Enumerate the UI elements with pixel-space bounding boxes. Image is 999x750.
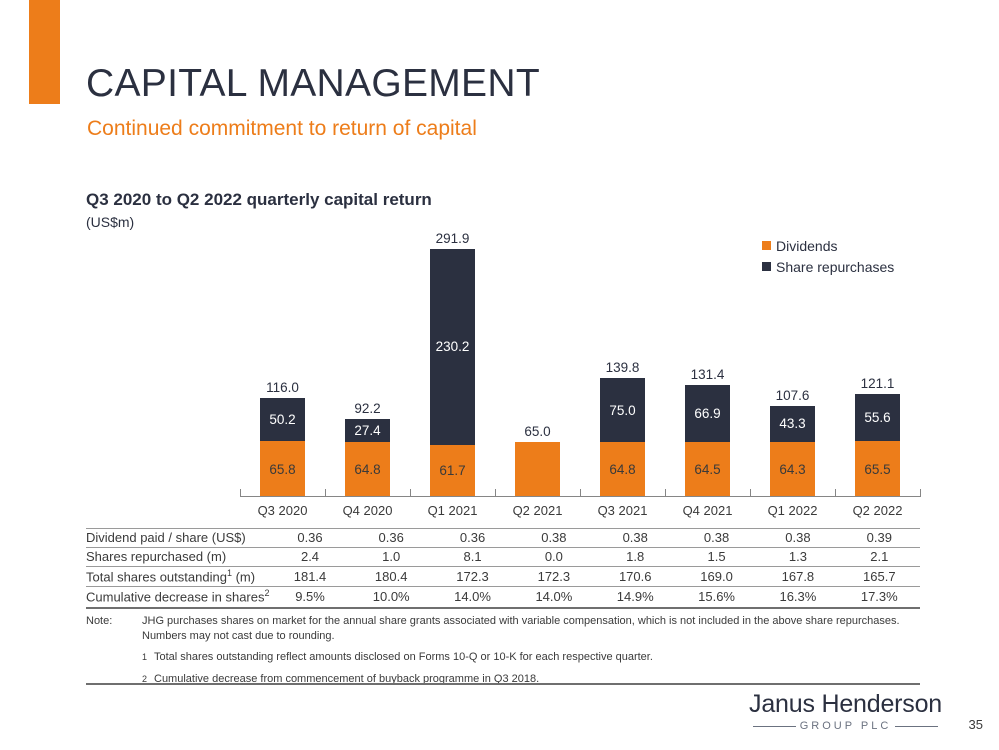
- table-cell: 9.5%: [270, 587, 351, 608]
- note-key: Note:: [86, 614, 142, 644]
- table-cell: 1.0: [351, 548, 432, 567]
- footnote-marker: 1: [142, 650, 154, 665]
- x-axis-tick-label: Q3 2020: [240, 503, 325, 518]
- table-row: Dividend paid / share (US$)0.360.360.360…: [86, 529, 920, 548]
- x-axis-tick: [750, 489, 751, 497]
- table-row-label: Total shares outstanding1 (m): [86, 567, 270, 587]
- bar-segment-dividends[interactable]: 65.5: [855, 441, 900, 497]
- table-cell: 1.5: [676, 548, 757, 567]
- x-axis-tick-label: Q3 2021: [580, 503, 665, 518]
- bar-stack[interactable]: 50.265.8: [260, 398, 305, 497]
- chart-title: Q3 2020 to Q2 2022 quarterly capital ret…: [86, 190, 432, 210]
- notes-block: Note: JHG purchases shares on market for…: [86, 614, 920, 687]
- bar-column[interactable]: 230.261.7291.9: [410, 230, 495, 497]
- company-logo: Janus Henderson GROUP PLC: [749, 690, 942, 732]
- bar-column[interactable]: 66.964.5131.4: [665, 230, 750, 497]
- bar-segment-share-repurchases[interactable]: 27.4: [345, 419, 390, 442]
- bar-segment-dividends[interactable]: 64.8: [345, 442, 390, 497]
- bar-stack[interactable]: 27.464.8: [345, 419, 390, 497]
- table-cell: 0.38: [513, 529, 594, 548]
- bar-segment-share-repurchases[interactable]: 75.0: [600, 378, 645, 442]
- table-cell: 0.36: [270, 529, 351, 548]
- table-row: Shares repurchased (m)2.41.08.10.01.81.5…: [86, 548, 920, 567]
- table-cell: 14.0%: [513, 587, 594, 608]
- table-cell: 2.1: [839, 548, 920, 567]
- bar-stack[interactable]: 66.964.5: [685, 385, 730, 497]
- table-cell: 0.38: [676, 529, 757, 548]
- x-axis-tick-label: Q2 2021: [495, 503, 580, 518]
- bar-total-label: 116.0: [240, 380, 325, 395]
- table-cell: 169.0: [676, 567, 757, 587]
- table-cell: 172.3: [513, 567, 594, 587]
- x-axis-tick-label: Q1 2022: [750, 503, 835, 518]
- bar-column[interactable]: 27.464.892.2: [325, 230, 410, 497]
- bar-segment-dividends[interactable]: 64.5: [685, 442, 730, 497]
- footnote-marker: 1: [227, 568, 232, 578]
- table-cell: 1.3: [757, 548, 838, 567]
- x-axis-tick-label: Q2 2022: [835, 503, 920, 518]
- note-body: JHG purchases shares on market for the a…: [142, 614, 920, 644]
- bar-total-label: 139.8: [580, 360, 665, 375]
- table-cell: 1.8: [595, 548, 676, 567]
- table-cell: 0.36: [351, 529, 432, 548]
- table-row-label: Shares repurchased (m): [86, 548, 270, 567]
- logo-subtitle-text: GROUP PLC: [800, 720, 892, 732]
- table-cell: 8.1: [432, 548, 513, 567]
- page-title: CAPITAL MANAGEMENT: [86, 62, 540, 106]
- notes-divider: [86, 683, 920, 685]
- bar-stack[interactable]: 55.665.5: [855, 394, 900, 497]
- bar-segment-dividends[interactable]: 64.3: [770, 442, 815, 497]
- bar-stack[interactable]: [515, 442, 560, 497]
- bar-segment-share-repurchases[interactable]: 55.6: [855, 394, 900, 441]
- table-cell: 2.4: [270, 548, 351, 567]
- capital-return-table: Dividend paid / share (US$)0.360.360.360…: [86, 528, 920, 609]
- bar-total-label: 121.1: [835, 376, 920, 391]
- bar-column[interactable]: 50.265.8116.0: [240, 230, 325, 497]
- bar-stack[interactable]: 75.064.8: [600, 378, 645, 497]
- logo-subtitle: GROUP PLC: [749, 720, 942, 732]
- page-subtitle: Continued commitment to return of capita…: [87, 117, 477, 141]
- footnote-marker: 2: [264, 588, 269, 598]
- table-cell: 14.9%: [595, 587, 676, 608]
- bar-stack[interactable]: 43.364.3: [770, 406, 815, 497]
- table-cell: 0.38: [595, 529, 676, 548]
- x-axis-tick-label: Q4 2020: [325, 503, 410, 518]
- x-axis-tick: [240, 489, 241, 497]
- x-axis-tick: [325, 489, 326, 497]
- bar-column[interactable]: 43.364.3107.6: [750, 230, 835, 497]
- bar-total-label: 291.9: [410, 231, 495, 246]
- table-cell: 16.3%: [757, 587, 838, 608]
- bar-total-label: 131.4: [665, 367, 750, 382]
- bar-segment-share-repurchases[interactable]: 43.3: [770, 406, 815, 443]
- logo-rule-left: [753, 726, 796, 727]
- x-axis-tick-label: Q1 2021: [410, 503, 495, 518]
- bar-column[interactable]: 55.665.5121.1: [835, 230, 920, 497]
- table-cell: 170.6: [595, 567, 676, 587]
- table-cell: 180.4: [351, 567, 432, 587]
- footnote-text: Total shares outstanding reflect amounts…: [154, 650, 653, 665]
- table-cell: 0.0: [513, 548, 594, 567]
- note-main: Note: JHG purchases shares on market for…: [86, 614, 920, 644]
- x-axis-tick: [580, 489, 581, 497]
- table-cell: 14.0%: [432, 587, 513, 608]
- x-axis-tick: [835, 489, 836, 497]
- page-number: 35: [969, 717, 983, 732]
- table-cell: 10.0%: [351, 587, 432, 608]
- table-row: Total shares outstanding1 (m)181.4180.41…: [86, 567, 920, 587]
- table-cell: 167.8: [757, 567, 838, 587]
- table-cell: 181.4: [270, 567, 351, 587]
- footnote-row: 1Total shares outstanding reflect amount…: [86, 650, 920, 665]
- bar-column[interactable]: 75.064.8139.8: [580, 230, 665, 497]
- table-cell: 0.39: [839, 529, 920, 548]
- x-axis-tick: [920, 489, 921, 497]
- chart-plot-area: 50.265.8116.027.464.892.2230.261.7291.96…: [240, 230, 920, 497]
- x-axis-tick-labels: Q3 2020Q4 2020Q1 2021Q2 2021Q3 2021Q4 20…: [240, 503, 920, 523]
- bar-segment-dividends[interactable]: 64.8: [600, 442, 645, 497]
- table-row-label: Dividend paid / share (US$): [86, 529, 270, 548]
- bar-column[interactable]: 65.0: [495, 230, 580, 497]
- bar-segment-share-repurchases[interactable]: 50.2: [260, 398, 305, 441]
- table-cell: 15.6%: [676, 587, 757, 608]
- bar-segment-dividends[interactable]: 65.8: [260, 441, 305, 497]
- table-body: Dividend paid / share (US$)0.360.360.360…: [86, 529, 920, 608]
- table-cell: 0.36: [432, 529, 513, 548]
- table-cell: 165.7: [839, 567, 920, 587]
- table-row: Cumulative decrease in shares29.5%10.0%1…: [86, 587, 920, 608]
- table-cell: 17.3%: [839, 587, 920, 608]
- table-cell: 172.3: [432, 567, 513, 587]
- x-axis-tick-label: Q4 2021: [665, 503, 750, 518]
- bar-total-label: 65.0: [495, 424, 580, 439]
- bar-segment-dividends[interactable]: [515, 442, 560, 497]
- accent-bar: [29, 0, 60, 104]
- x-axis-tick: [665, 489, 666, 497]
- logo-name: Janus Henderson: [749, 690, 942, 719]
- table-cell: 0.38: [757, 529, 838, 548]
- table-row-label: Cumulative decrease in shares2: [86, 587, 270, 608]
- logo-rule-right: [895, 726, 938, 727]
- x-axis-tick: [410, 489, 411, 497]
- bar-stack[interactable]: 230.261.7: [430, 249, 475, 497]
- bar-segment-share-repurchases[interactable]: 66.9: [685, 385, 730, 442]
- bar-segment-dividends[interactable]: 61.7: [430, 445, 475, 497]
- chart-units-label: (US$m): [86, 214, 134, 230]
- x-axis-tick: [495, 489, 496, 497]
- bar-total-label: 92.2: [325, 401, 410, 416]
- bar-segment-share-repurchases[interactable]: 230.2: [430, 249, 475, 445]
- bar-total-label: 107.6: [750, 388, 835, 403]
